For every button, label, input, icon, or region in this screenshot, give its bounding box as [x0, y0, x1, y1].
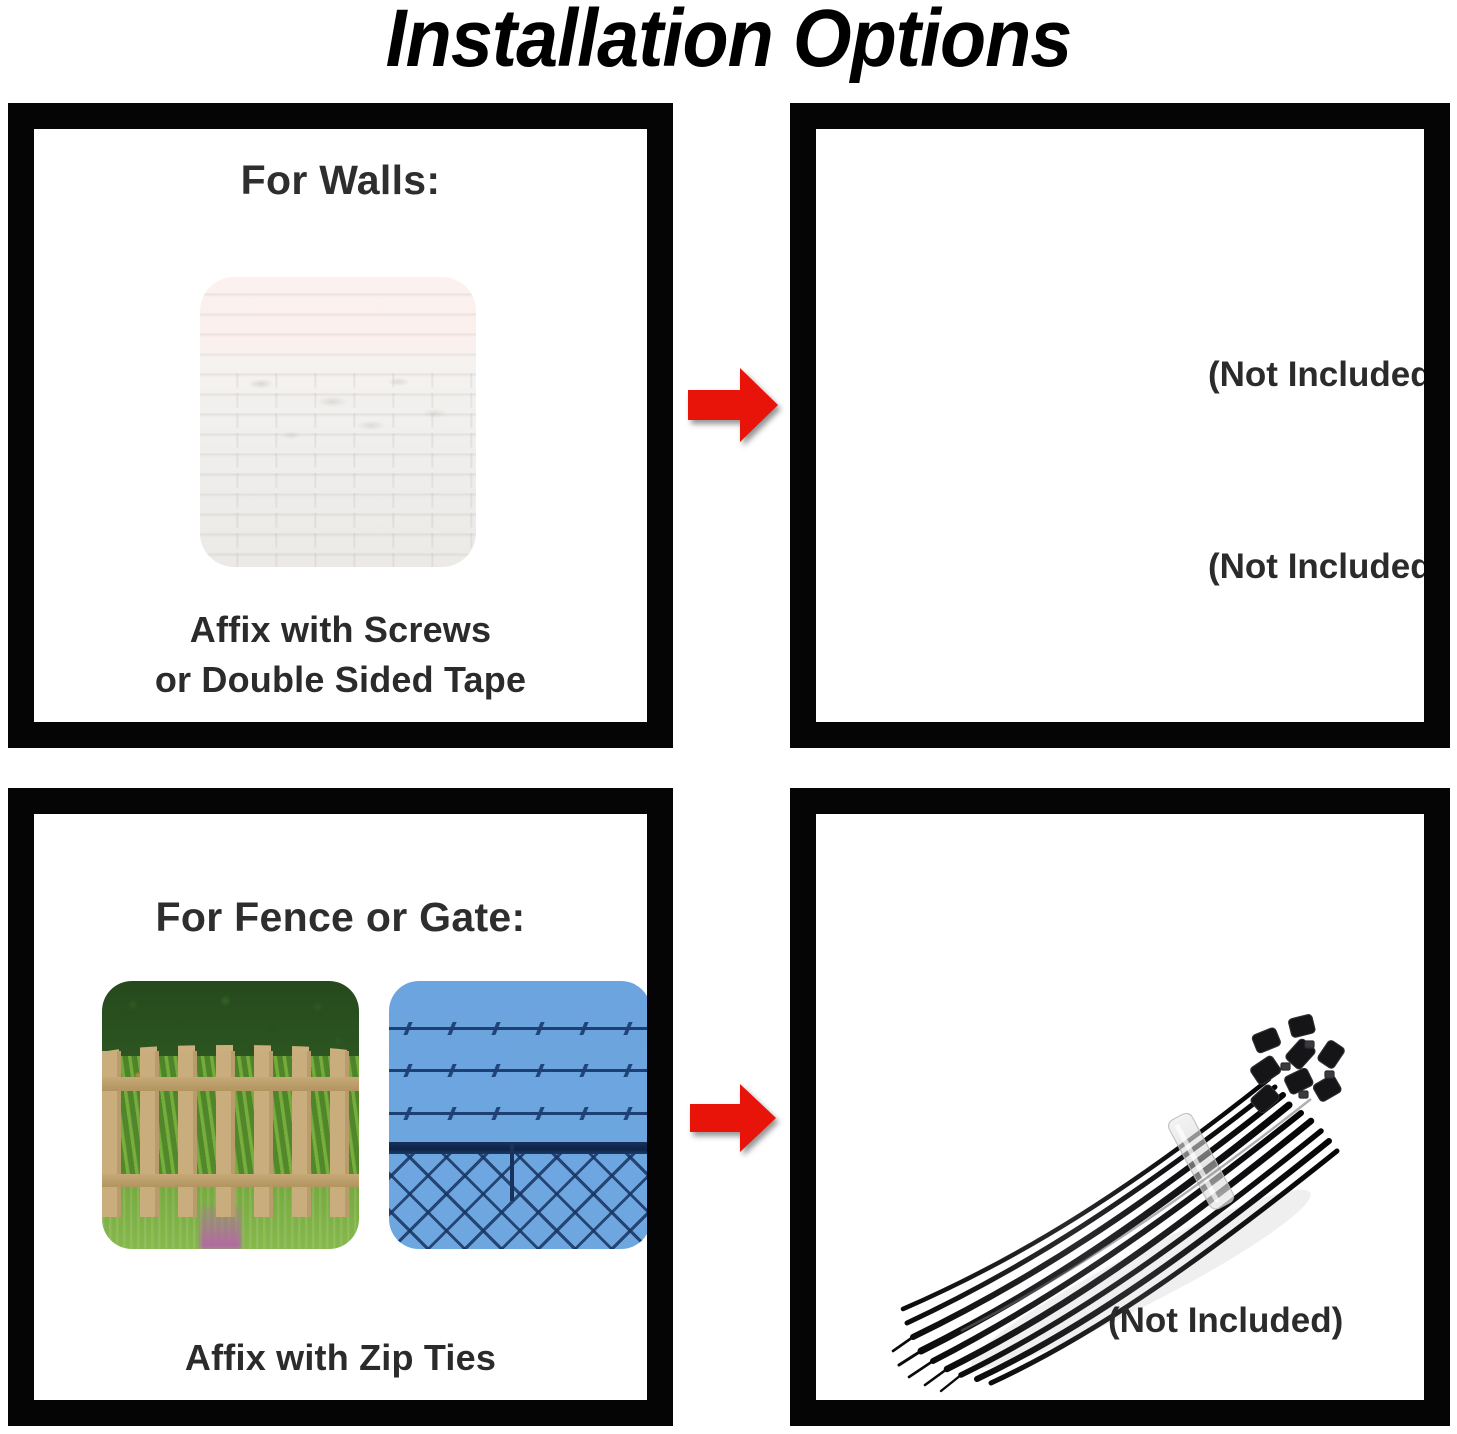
zip-ties-not-included-label: (Not Included) — [1108, 1301, 1343, 1341]
chain-link-mesh — [389, 1153, 647, 1249]
white-brick-wall-photo — [200, 277, 476, 567]
panel-zip-ties: (Not Included) — [790, 788, 1450, 1426]
panel-for-walls: For Walls: Affix with Screws or Double S… — [8, 103, 673, 748]
page-title: Installation Options — [58, 0, 1398, 80]
barbed-wire-strand-3 — [389, 1112, 647, 1115]
panel-wall-hardware: (Not Included) — [790, 103, 1450, 748]
walls-caption-line-1: Affix with Screws — [34, 609, 647, 651]
walls-caption-line-2: or Double Sided Tape — [34, 659, 647, 701]
panel-for-fence-or-gate: For Fence or Gate: — [8, 788, 673, 1426]
installation-options-infographic: Installation Options For Walls: Affix wi… — [0, 0, 1457, 1434]
barbed-wire-strand-1 — [389, 1027, 647, 1030]
screws-not-included-label: (Not Included) — [1208, 547, 1424, 587]
right-arrow-icon — [690, 1082, 778, 1154]
fence-pickets — [102, 1051, 359, 1217]
fence-post — [510, 1142, 514, 1201]
fence-rail-bottom — [102, 1174, 359, 1187]
wooden-picket-fence-photo — [102, 981, 359, 1249]
brick-texture-speckle — [200, 364, 476, 463]
for-fence-or-gate-heading: For Fence or Gate: — [34, 894, 647, 941]
chain-link-barbed-wire-fence-photo — [389, 981, 647, 1249]
tape-not-included-label: (Not Included) — [1208, 355, 1424, 395]
barbed-wire-strand-2 — [389, 1069, 647, 1072]
right-arrow-icon — [688, 366, 780, 444]
fence-rail-top — [102, 1077, 359, 1090]
fence-caption: Affix with Zip Ties — [34, 1337, 647, 1379]
for-walls-heading: For Walls: — [34, 157, 647, 204]
